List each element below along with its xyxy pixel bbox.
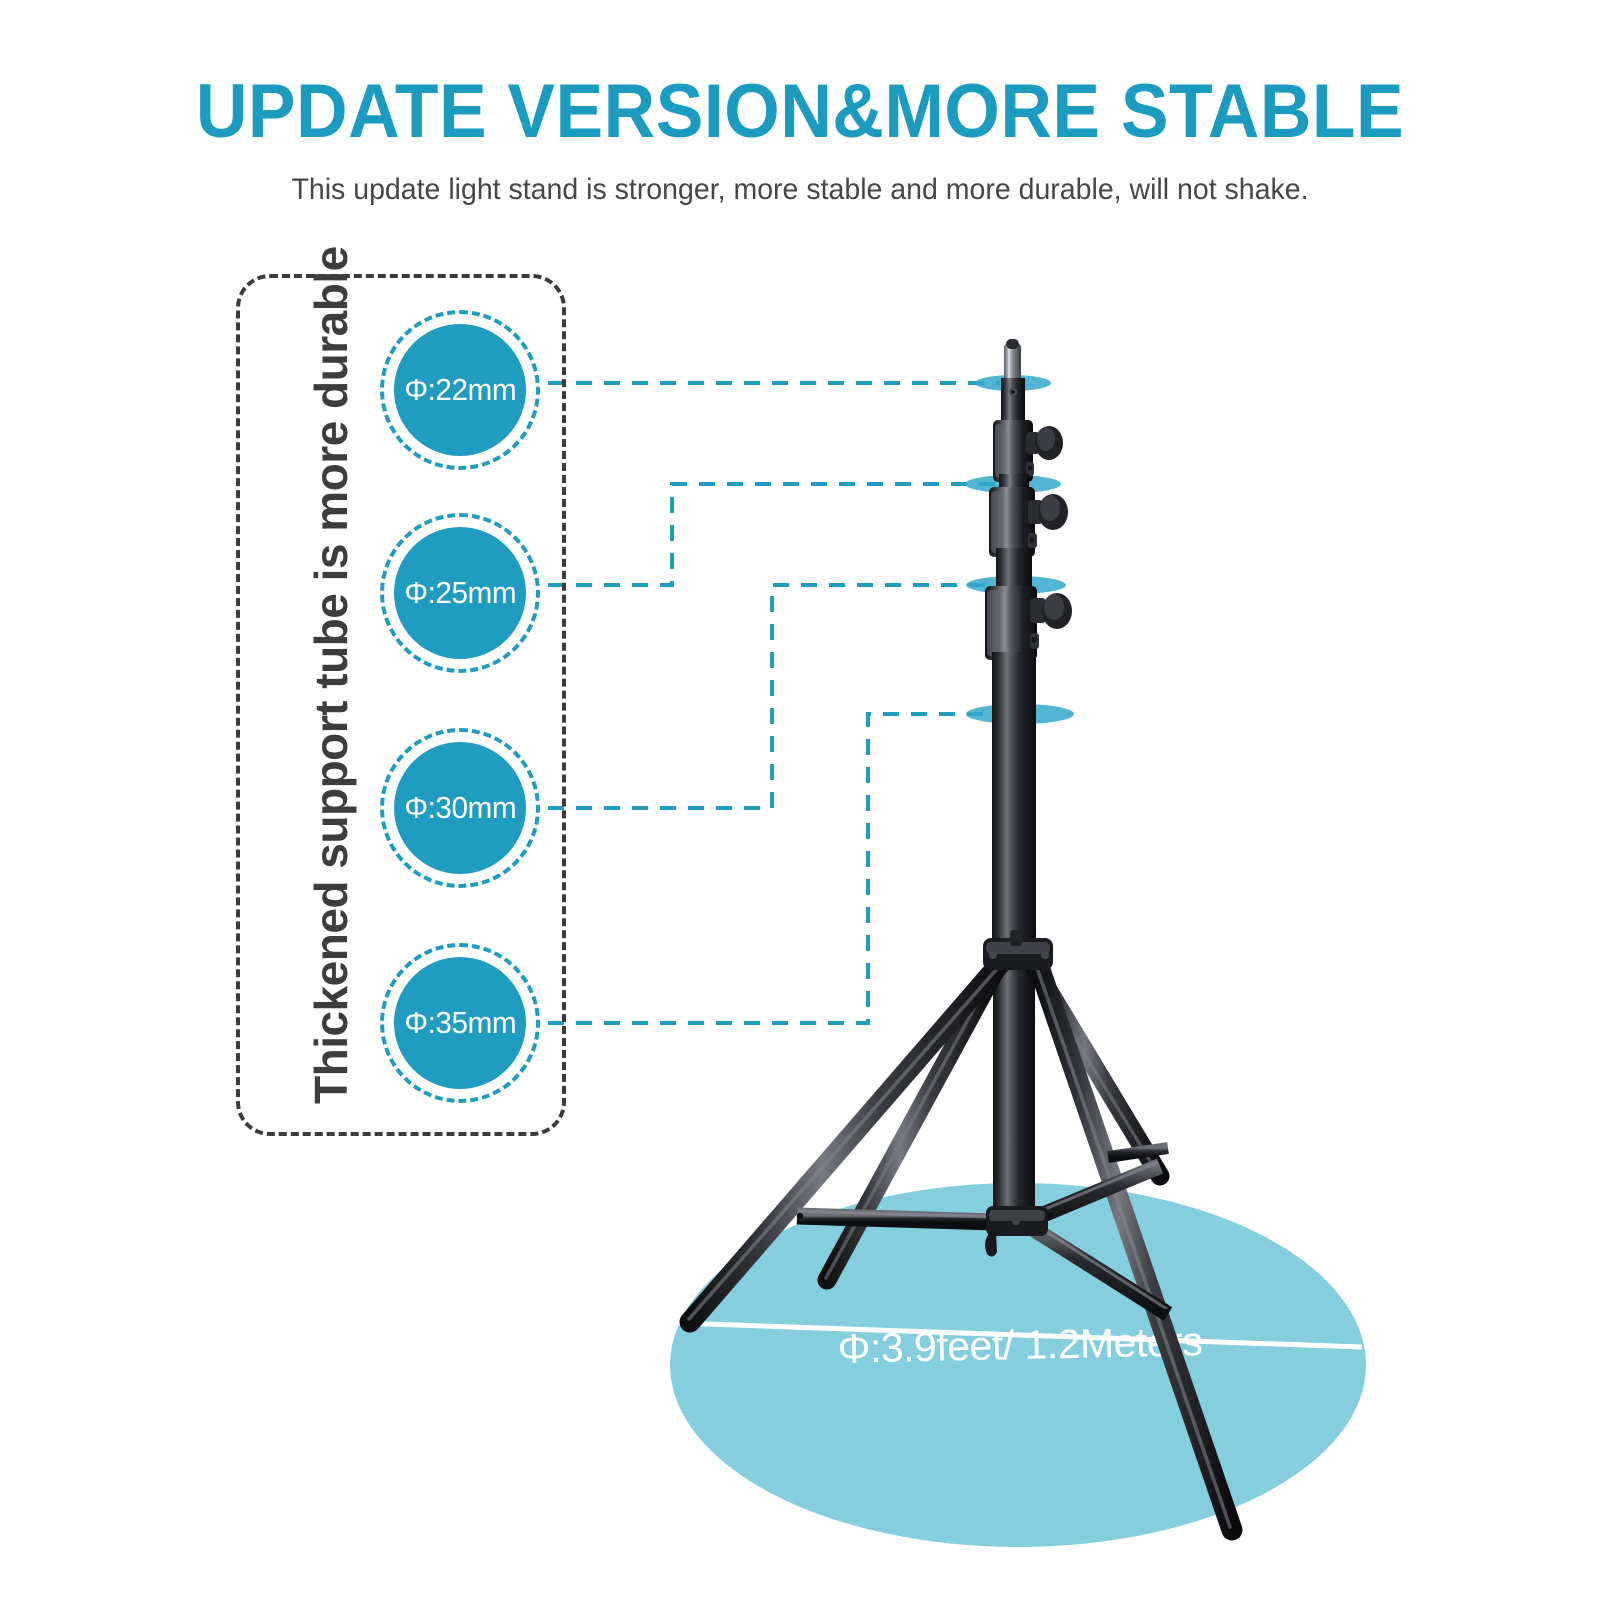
- spec-circle-disc: Φ:25mm: [394, 527, 526, 659]
- top-spigot: [1004, 339, 1021, 382]
- lock-collar-1: [993, 420, 1063, 482]
- hub-release-lever: [985, 1232, 997, 1257]
- spec-circle-disc: Φ:22mm: [394, 324, 526, 456]
- lock-collar-2: [989, 487, 1068, 557]
- spec-circle-35mm[interactable]: Φ:35mm: [380, 943, 540, 1103]
- tripod-legs: [689, 958, 1232, 1530]
- tube-section-22mm: [1001, 378, 1025, 426]
- spec-circle-label: Φ:25mm: [404, 575, 516, 611]
- center-column-lower: [993, 960, 1035, 1222]
- spec-circle-label: Φ:22mm: [404, 372, 516, 408]
- spec-circle-disc: Φ:35mm: [394, 957, 526, 1089]
- infographic-canvas: UPDATE VERSION&MORE STABLE This update l…: [0, 0, 1600, 1600]
- spec-circle-22mm[interactable]: Φ:22mm: [380, 310, 540, 470]
- tripod-hub-lower: [985, 1206, 1048, 1257]
- spec-circle-disc: Φ:30mm: [394, 742, 526, 874]
- spec-circle-25mm[interactable]: Φ:25mm: [380, 513, 540, 673]
- lock-collar-3: [985, 586, 1072, 660]
- spec-circle-30mm[interactable]: Φ:30mm: [380, 728, 540, 888]
- tube-section-35mm: [992, 652, 1036, 972]
- spec-panel-vertical-label: Thickened support tube is more durable: [304, 304, 358, 1104]
- spec-circle-label: Φ:30mm: [404, 790, 516, 826]
- spec-circle-label: Φ:35mm: [404, 1005, 516, 1041]
- brace-upper-right: [1108, 1148, 1168, 1157]
